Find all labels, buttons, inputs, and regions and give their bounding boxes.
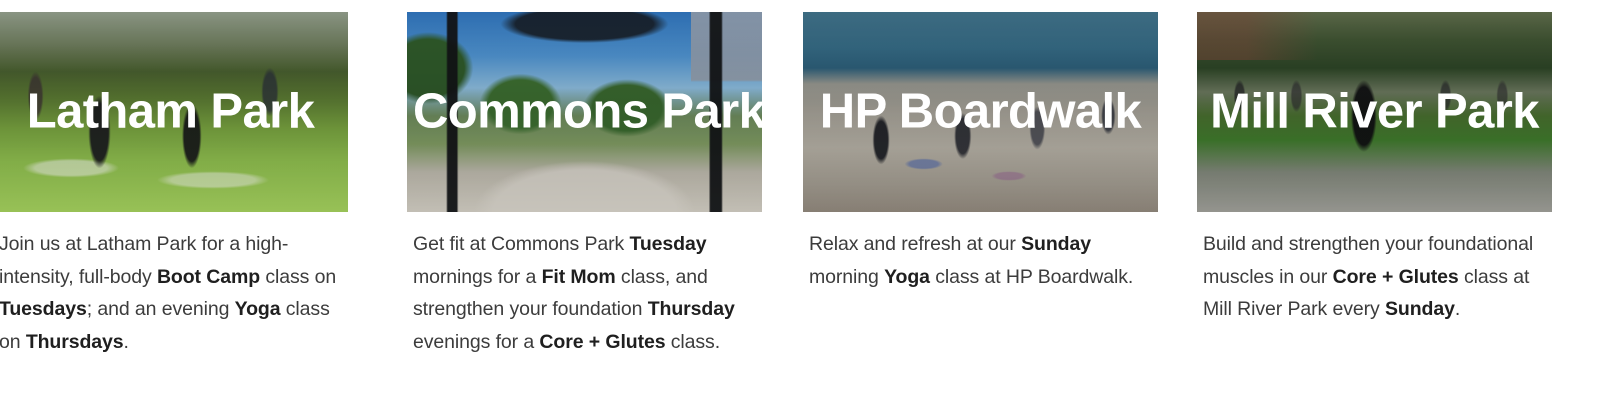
location-card-latham-park[interactable]: Latham Park Join us at Latham Park for a… <box>0 0 348 400</box>
card-title: HP Boardwalk <box>803 86 1158 137</box>
card-title: Mill River Park <box>1197 86 1552 137</box>
card-image-hp-boardwalk[interactable]: HP Boardwalk <box>803 12 1158 212</box>
location-card-hp-boardwalk[interactable]: HP Boardwalk Relax and refresh at our Su… <box>803 0 1158 400</box>
card-description: Build and strengthen your foundational m… <box>1203 228 1552 326</box>
locations-grid: Latham Park Join us at Latham Park for a… <box>0 0 1600 400</box>
location-card-commons-park[interactable]: Commons Park Get fit at Commons Park Tue… <box>407 0 762 400</box>
card-image-mill-river-park[interactable]: Mill River Park <box>1197 12 1552 212</box>
card-image-latham-park[interactable]: Latham Park <box>0 12 348 212</box>
card-title: Latham Park <box>0 86 348 137</box>
card-image-commons-park[interactable]: Commons Park <box>407 12 762 212</box>
card-title: Commons Park <box>407 86 762 137</box>
card-description: Get fit at Commons Park Tuesday mornings… <box>413 228 762 358</box>
location-card-mill-river-park[interactable]: Mill River Park Build and strengthen you… <box>1197 0 1552 400</box>
card-description: Relax and refresh at our Sunday morning … <box>809 228 1158 293</box>
card-description: Join us at Latham Park for a high-intens… <box>0 228 348 358</box>
